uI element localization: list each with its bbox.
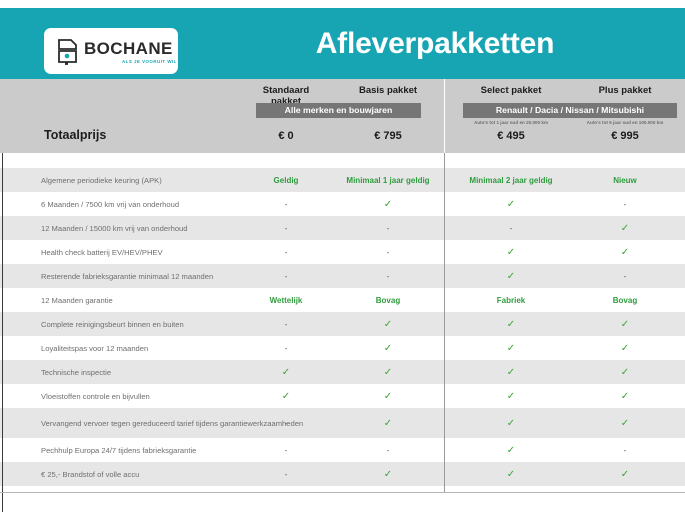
table-cell: - [573,264,677,288]
check-icon: ✓ [507,343,515,354]
table-cell: - [455,216,567,240]
left-edge-tick [2,384,3,408]
cell-text: Minimaal 2 jaar geldig [469,176,552,185]
table-cell: - [336,438,440,462]
table-cell: ✓ [573,216,677,240]
table-cell: ✓ [573,360,677,384]
check-icon: ✓ [384,343,392,354]
column-subtitle-select: Auto's tot 1 jaar oud en 20.000 km [455,120,567,125]
row-label: 12 Maanden garantie [41,288,113,312]
row-label: Algemene periodieke keuring (APK) [41,168,162,192]
check-icon: ✓ [384,469,392,480]
table-cell: - [573,192,677,216]
left-edge-tick [2,360,3,384]
table-cell: ✓ [455,408,567,438]
row-label: Resterende fabrieksgarantie minimaal 12 … [41,264,213,288]
table-top-spacer [0,153,685,168]
check-icon: ✓ [507,247,515,258]
table-cell: ✓ [573,384,677,408]
table-row: Algemene periodieke keuring (APK)GeldigM… [0,168,685,192]
table-cell: Minimaal 1 jaar geldig [336,168,440,192]
table-cell: Fabriek [455,288,567,312]
table-cell: - [336,240,440,264]
table-cell: Wettelijk [248,288,324,312]
dash-mark: - [285,224,288,233]
check-icon: ✓ [621,223,629,234]
check-icon: ✓ [507,445,515,456]
dash-mark: - [285,320,288,329]
table-bottom-rule [0,492,685,493]
dash-mark: - [624,200,627,209]
check-icon: ✓ [621,418,629,429]
cell-text: Nieuw [613,176,637,185]
left-edge-tick [2,486,3,512]
table-row: € 25,- Brandstof of volle accu-✓✓✓ [0,462,685,486]
table-row: 12 Maanden garantieWettelijkBovagFabriek… [0,288,685,312]
left-edge-tick [2,240,3,264]
dash-mark: - [387,248,390,257]
column-title-basis: Basis pakket [336,85,440,96]
row-label: 6 Maanden / 7500 km vrij van onderhoud [41,192,179,216]
table-cell: ✓ [336,336,440,360]
table-cell: ✓ [455,384,567,408]
cell-text: Fabriek [497,296,525,305]
table-cell: Bovag [336,288,440,312]
logo-tagline: ALS JE VOORUIT WIL [122,59,177,64]
table-cell: ✓ [455,462,567,486]
cell-text: Bovag [376,296,400,305]
left-edge-tick [2,336,3,360]
table-row: Health check batterij EV/HEV/PHEV--✓✓ [0,240,685,264]
check-icon: ✓ [507,367,515,378]
column-subtitle-plus: Auto's tot 5 jaar oud en 100.000 km [573,120,677,125]
cell-text: Minimaal 1 jaar geldig [346,176,429,185]
check-icon: ✓ [507,469,515,480]
column-header-split [444,79,445,153]
table-cell: Nieuw [573,168,677,192]
dash-mark: - [285,200,288,209]
table-cell: - [248,462,324,486]
check-icon: ✓ [507,199,515,210]
row-label: Technische inspectie [41,360,111,384]
bochane-logo: BOCHANE ALS JE VOORUIT WIL [44,28,178,74]
column-title-select: Select pakket [455,85,567,96]
table-cell: ✓ [573,336,677,360]
check-icon: ✓ [621,319,629,330]
left-edge-tick [2,312,3,336]
table-bottom-spacer [0,486,685,512]
group-bar-right: Renault / Dacia / Nissan / Mitsubishi [463,103,677,118]
check-icon: ✓ [621,367,629,378]
table-row: 12 Maanden / 15000 km vrij van onderhoud… [0,216,685,240]
table-row: Pechhulp Europa 24/7 tijdens fabrieksgar… [0,438,685,462]
row-label: Vloeistoffen controle en bijvullen [41,384,150,408]
check-icon: ✓ [282,391,290,402]
row-label: 12 Maanden / 15000 km vrij van onderhoud [41,216,188,240]
dash-mark: - [624,272,627,281]
logo-wordmark: BOCHANE [84,39,173,59]
table-cell: - [336,264,440,288]
table-cell: Bovag [573,288,677,312]
packages-group-divider [444,153,445,492]
table-cell: - [248,216,324,240]
features-table: Algemene periodieke keuring (APK)GeldigM… [0,153,685,512]
row-label: Pechhulp Europa 24/7 tijdens fabrieksgar… [41,438,196,462]
table-cell: ✓ [336,360,440,384]
check-icon: ✓ [507,271,515,282]
dash-mark: - [624,446,627,455]
table-cell: ✓ [573,462,677,486]
table-cell: - [248,408,324,438]
table-cell: - [336,216,440,240]
left-edge-tick [2,462,3,486]
table-cell: - [248,438,324,462]
group-bar-left: Alle merken en bouwjaren [256,103,421,118]
table-cell: ✓ [336,462,440,486]
table-cell: - [248,312,324,336]
check-icon: ✓ [621,469,629,480]
check-icon: ✓ [507,319,515,330]
check-icon: ✓ [384,319,392,330]
left-edge-tick [2,288,3,312]
table-cell: ✓ [455,336,567,360]
check-icon: ✓ [507,418,515,429]
dash-mark: - [510,224,513,233]
table-cell: ✓ [455,264,567,288]
left-edge-tick [2,192,3,216]
table-cell: ✓ [573,240,677,264]
check-icon: ✓ [384,391,392,402]
table-cell: Geldig [248,168,324,192]
left-edge-tick [2,168,3,192]
bochane-mark-icon [56,38,80,65]
left-edge-tick [2,153,3,168]
table-row: Vervangend vervoer tegen gereduceerd tar… [0,408,685,438]
dash-mark: - [387,446,390,455]
table-row: Complete reinigingsbeurt binnen en buite… [0,312,685,336]
check-icon: ✓ [621,247,629,258]
table-row: Vloeistoffen controle en bijvullen✓✓✓✓ [0,384,685,408]
table-cell: - [248,336,324,360]
row-label: Loyaliteitspas voor 12 maanden [41,336,148,360]
dash-mark: - [285,470,288,479]
check-icon: ✓ [621,391,629,402]
totaalprijs-label: Totaalprijs [44,128,106,142]
table-cell: - [248,192,324,216]
left-edge-tick [2,264,3,288]
table-row: Technische inspectie✓✓✓✓ [0,360,685,384]
table-cell: ✓ [455,438,567,462]
column-price-select: € 495 [455,130,567,142]
left-edge-tick [2,216,3,240]
table-cell: ✓ [455,312,567,336]
column-title-plus: Plus pakket [573,85,677,96]
dash-mark: - [387,224,390,233]
table-cell: ✓ [455,240,567,264]
dash-mark: - [285,446,288,455]
table-row: Resterende fabrieksgarantie minimaal 12 … [0,264,685,288]
dash-mark: - [285,248,288,257]
table-cell: ✓ [336,192,440,216]
dash-mark: - [285,272,288,281]
column-price-standaard: € 0 [248,130,324,142]
cell-text: Bovag [613,296,637,305]
check-icon: ✓ [621,343,629,354]
table-cell: - [248,264,324,288]
check-icon: ✓ [384,367,392,378]
table-cell: ✓ [248,360,324,384]
table-cell: ✓ [455,360,567,384]
dash-mark: - [387,272,390,281]
table-cell: ✓ [248,384,324,408]
left-edge-tick [2,408,3,438]
table-cell: ✓ [455,192,567,216]
check-icon: ✓ [384,199,392,210]
table-cell: ✓ [573,408,677,438]
page-header-band: BOCHANE ALS JE VOORUIT WIL Afleverpakket… [0,8,685,79]
table-cell: ✓ [336,312,440,336]
table-cell: - [248,240,324,264]
table-row: Loyaliteitspas voor 12 maanden-✓✓✓ [0,336,685,360]
table-cell: Minimaal 2 jaar geldig [455,168,567,192]
row-label: € 25,- Brandstof of volle accu [41,462,139,486]
row-label: Health check batterij EV/HEV/PHEV [41,240,163,264]
afleverpakketten-page: BOCHANE ALS JE VOORUIT WIL Afleverpakket… [0,0,685,514]
column-price-plus: € 995 [573,130,677,142]
table-cell: ✓ [336,408,440,438]
dash-mark: - [285,344,288,353]
check-icon: ✓ [384,418,392,429]
table-cell: ✓ [573,312,677,336]
dash-mark: - [285,419,288,428]
check-icon: ✓ [507,391,515,402]
check-icon: ✓ [282,367,290,378]
table-cell: - [573,438,677,462]
table-row: 6 Maanden / 7500 km vrij van onderhoud-✓… [0,192,685,216]
cell-text: Wettelijk [270,296,303,305]
left-edge-tick [2,438,3,462]
page-title: Afleverpakketten [185,8,685,79]
table-cell: ✓ [336,384,440,408]
row-label: Complete reinigingsbeurt binnen en buite… [41,312,184,336]
cell-text: Geldig [274,176,299,185]
column-price-basis: € 795 [336,130,440,142]
